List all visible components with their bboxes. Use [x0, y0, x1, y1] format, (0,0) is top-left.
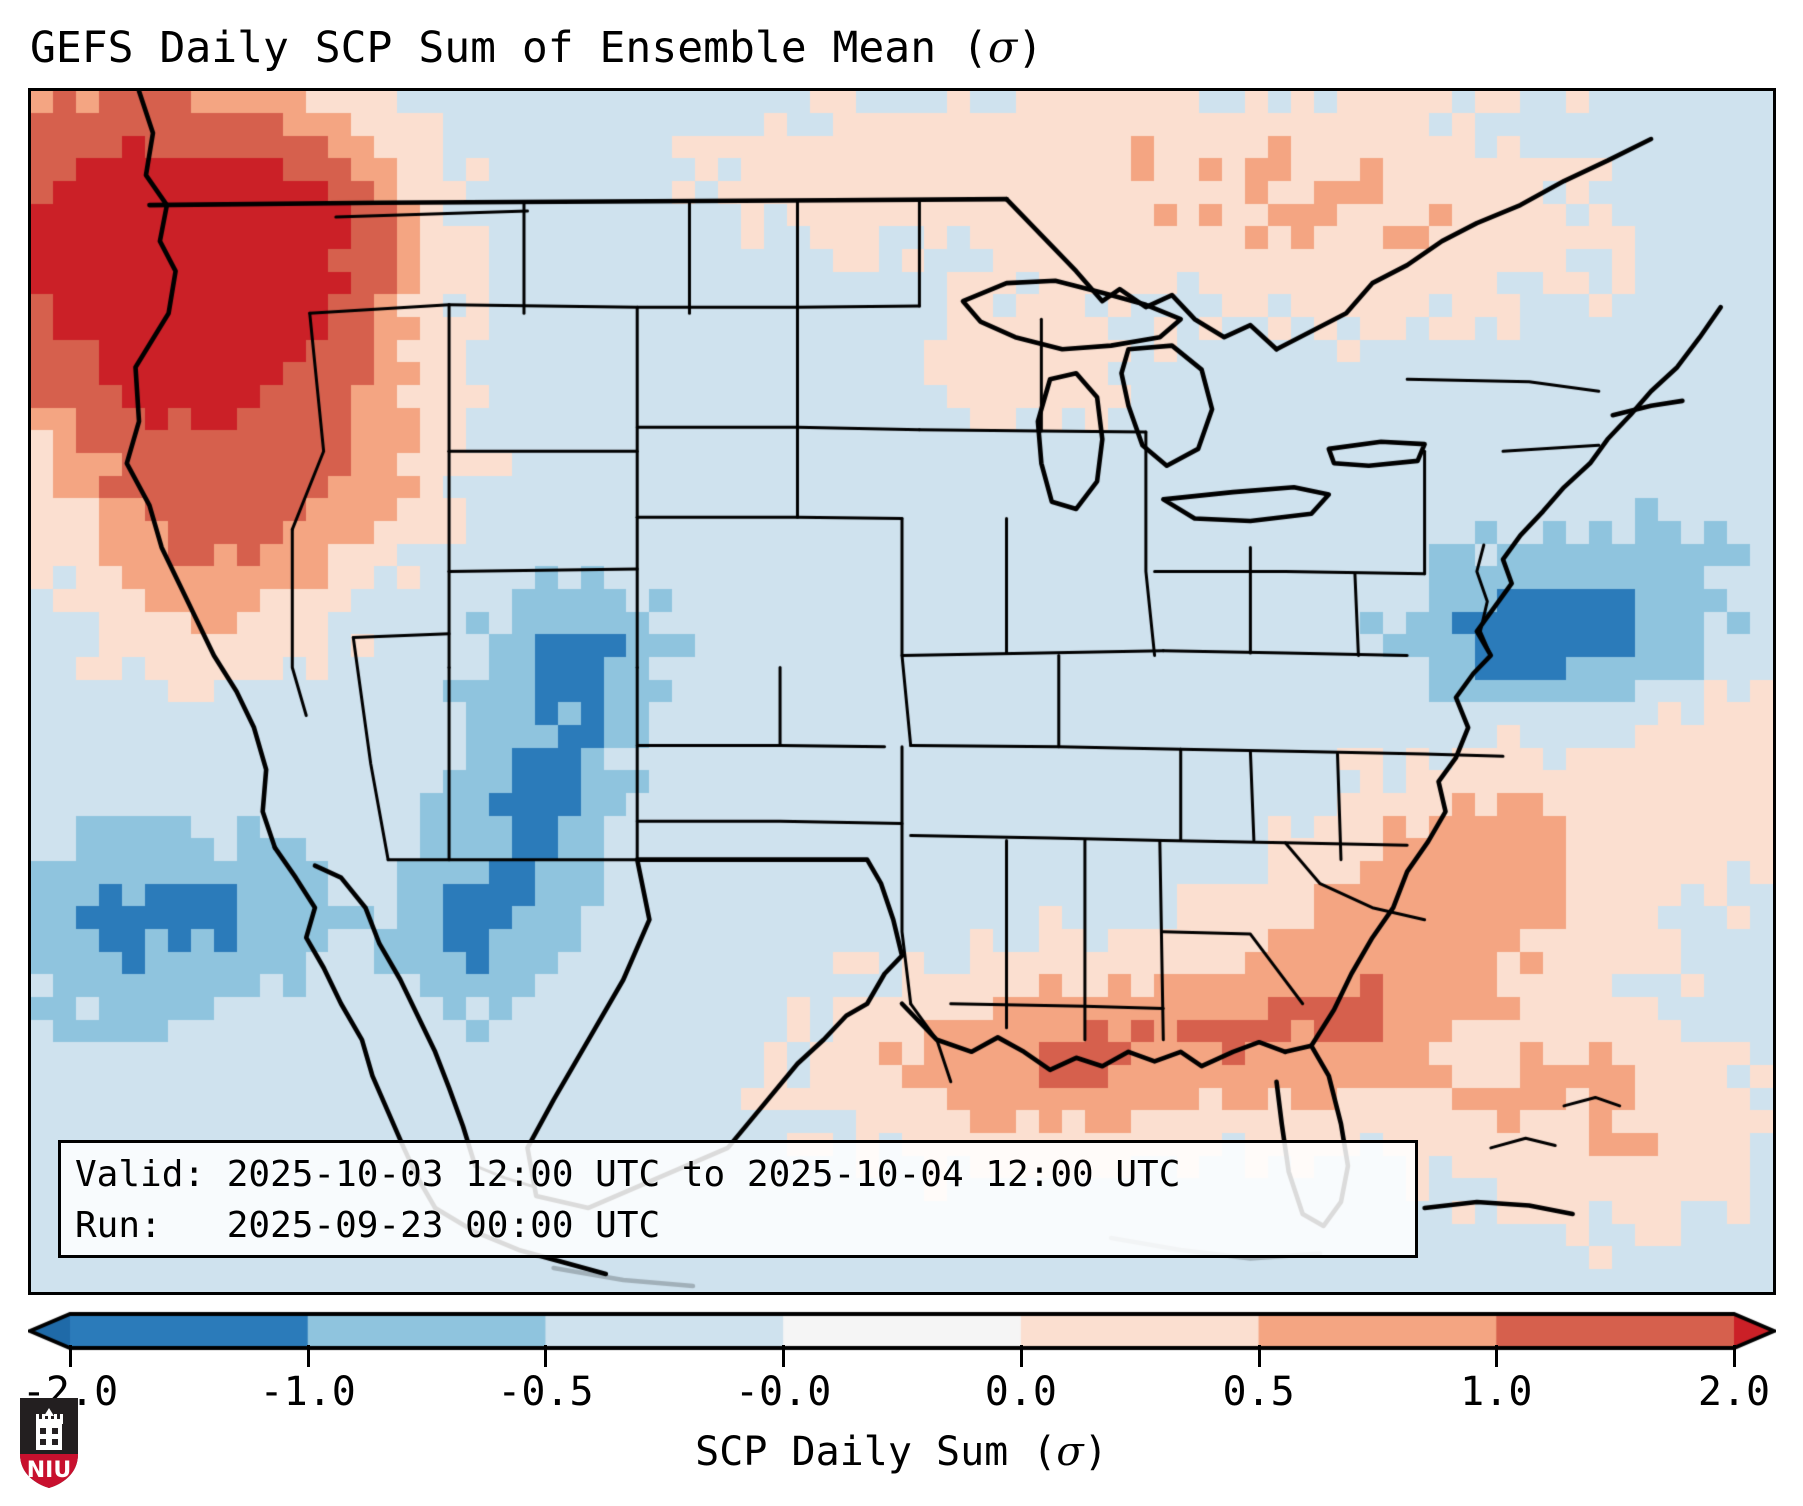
- colorbar-tick-label: -0.0: [735, 1364, 831, 1420]
- map-axes[interactable]: [28, 88, 1776, 1295]
- colorbar-tick-label: 0.5: [1222, 1364, 1294, 1420]
- title-prefix: GEFS Daily SCP Sum of Ensemble Mean (: [30, 23, 988, 73]
- colorbar-tick-label: -1.0: [260, 1364, 356, 1420]
- map-heatmap-canvas[interactable]: [31, 91, 1773, 1292]
- cbar-label-suffix: ): [1084, 1429, 1108, 1475]
- colorbar-tick-label: 0.0: [985, 1364, 1057, 1420]
- figure-root: GEFS Daily SCP Sum of Ensemble Mean (σ) …: [0, 0, 1803, 1506]
- page-title: GEFS Daily SCP Sum of Ensemble Mean (σ): [30, 18, 1770, 78]
- colorbar-axis-label: SCP Daily Sum (σ): [0, 1424, 1803, 1480]
- colorbar-tick-label: 1.0: [1460, 1364, 1532, 1420]
- cbar-label-prefix: SCP Daily Sum (: [695, 1429, 1056, 1475]
- title-suffix: ): [1017, 23, 1043, 73]
- niu-logo-text: NIU: [27, 1458, 71, 1483]
- run-line: Run: 2025-09-23 00:00 UTC: [75, 1200, 1401, 1251]
- colorbar-tick-label: -0.5: [497, 1364, 593, 1420]
- valid-line: Valid: 2025-10-03 12:00 UTC to 2025-10-0…: [75, 1149, 1401, 1200]
- cbar-label-sigma: σ: [1056, 1429, 1083, 1475]
- valid-run-info-box: Valid: 2025-10-03 12:00 UTC to 2025-10-0…: [58, 1140, 1418, 1258]
- colorbar-tick-label: 2.0: [1698, 1364, 1770, 1420]
- niu-logo: NIU: [18, 1396, 80, 1490]
- title-sigma: σ: [988, 23, 1017, 73]
- colorbar-tick-labels: -2.0-1.0-0.5-0.00.00.51.02.0: [0, 1364, 1803, 1420]
